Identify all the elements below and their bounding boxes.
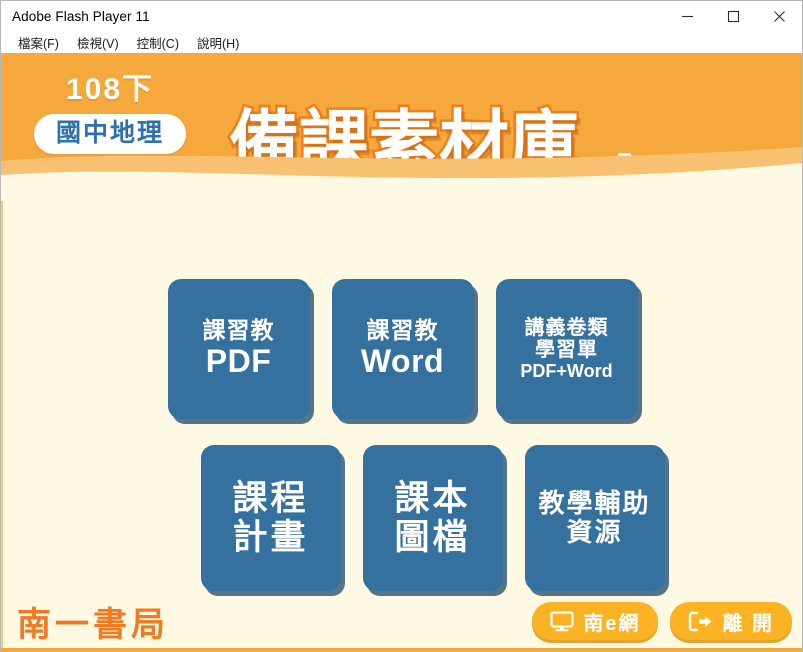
close-icon [773, 10, 786, 23]
tile-lesson-pdf[interactable]: 課習教 PDF [168, 279, 310, 419]
exit-label: 離 開 [722, 607, 774, 636]
tile-lesson-pdf-line2: PDF [206, 344, 272, 380]
monitor-icon [550, 611, 574, 632]
menu-item-file[interactable]: 檔案(F) [9, 33, 68, 52]
term-label: 108下 [15, 75, 205, 105]
tile-lesson-word-line1: 課習教 [367, 318, 439, 344]
button-grid: 課習教 PDF 課習教 Word 講義卷類 學習單 PDF+Word 課程 計畫 [1, 201, 802, 591]
tile-course-plan[interactable]: 課程 計畫 [201, 445, 341, 591]
header-banner: 108下 國中地理 備課素材庫 [1, 53, 802, 201]
tile-handouts[interactable]: 講義卷類 學習單 PDF+Word [496, 279, 638, 419]
tile-handouts-line3: PDF+Word [520, 361, 612, 381]
banner-wave [1, 145, 802, 201]
nani-web-label: 南e網 [583, 607, 640, 636]
close-button[interactable] [756, 1, 802, 31]
minimize-icon [681, 10, 694, 23]
tile-teaching-resources-line2: 資源 [566, 518, 622, 547]
tile-teaching-resources[interactable]: 教學輔助 資源 [525, 445, 665, 591]
tile-textbook-images[interactable]: 課本 圖檔 [363, 445, 503, 591]
tile-textbook-images-line2: 圖檔 [394, 518, 470, 557]
flash-player-window: Adobe Flash Player 11 檔案(F) 檢視(V [0, 0, 803, 652]
minimize-button[interactable] [664, 1, 710, 31]
tile-lesson-pdf-line1: 課習教 [203, 318, 275, 344]
tile-course-plan-line2: 計畫 [232, 518, 308, 557]
menu-item-help[interactable]: 說明(H) [188, 33, 248, 52]
nani-web-button[interactable]: 南e網 [532, 602, 658, 640]
tile-row-2: 課程 計畫 課本 圖檔 教學輔助 資源 [1, 445, 802, 591]
window-controls [664, 1, 802, 31]
footer-buttons: 南e網 離 開 [532, 602, 792, 640]
footer: 南一書局 南e網 [1, 589, 802, 651]
exit-icon [688, 611, 713, 632]
tile-handouts-line1: 講義卷類 [525, 317, 609, 339]
tile-textbook-images-line1: 課本 [394, 479, 470, 518]
tile-lesson-word[interactable]: 課習教 Word [332, 279, 474, 419]
menu-item-view[interactable]: 檢視(V) [68, 33, 128, 52]
tile-handouts-line2: 學習單 [535, 339, 598, 361]
title-bar: Adobe Flash Player 11 [1, 1, 802, 31]
menu-bar: 檔案(F) 檢視(V) 控制(C) 說明(H) [1, 31, 802, 53]
tile-teaching-resources-line1: 教學輔助 [538, 489, 650, 518]
tile-row-1: 課習教 PDF 課習教 Word 講義卷類 學習單 PDF+Word [1, 279, 802, 419]
maximize-icon [727, 10, 740, 23]
maximize-button[interactable] [710, 1, 756, 31]
flash-stage: 108下 國中地理 備課素材庫 [1, 53, 802, 651]
brand-logo: 南一書局 [17, 608, 169, 642]
footer-rule [1, 648, 802, 651]
exit-button[interactable]: 離 開 [670, 602, 792, 640]
tile-lesson-word-line2: Word [361, 344, 444, 380]
tile-course-plan-line1: 課程 [232, 479, 308, 518]
menu-item-control[interactable]: 控制(C) [128, 33, 188, 52]
window-title: Adobe Flash Player 11 [1, 9, 150, 24]
